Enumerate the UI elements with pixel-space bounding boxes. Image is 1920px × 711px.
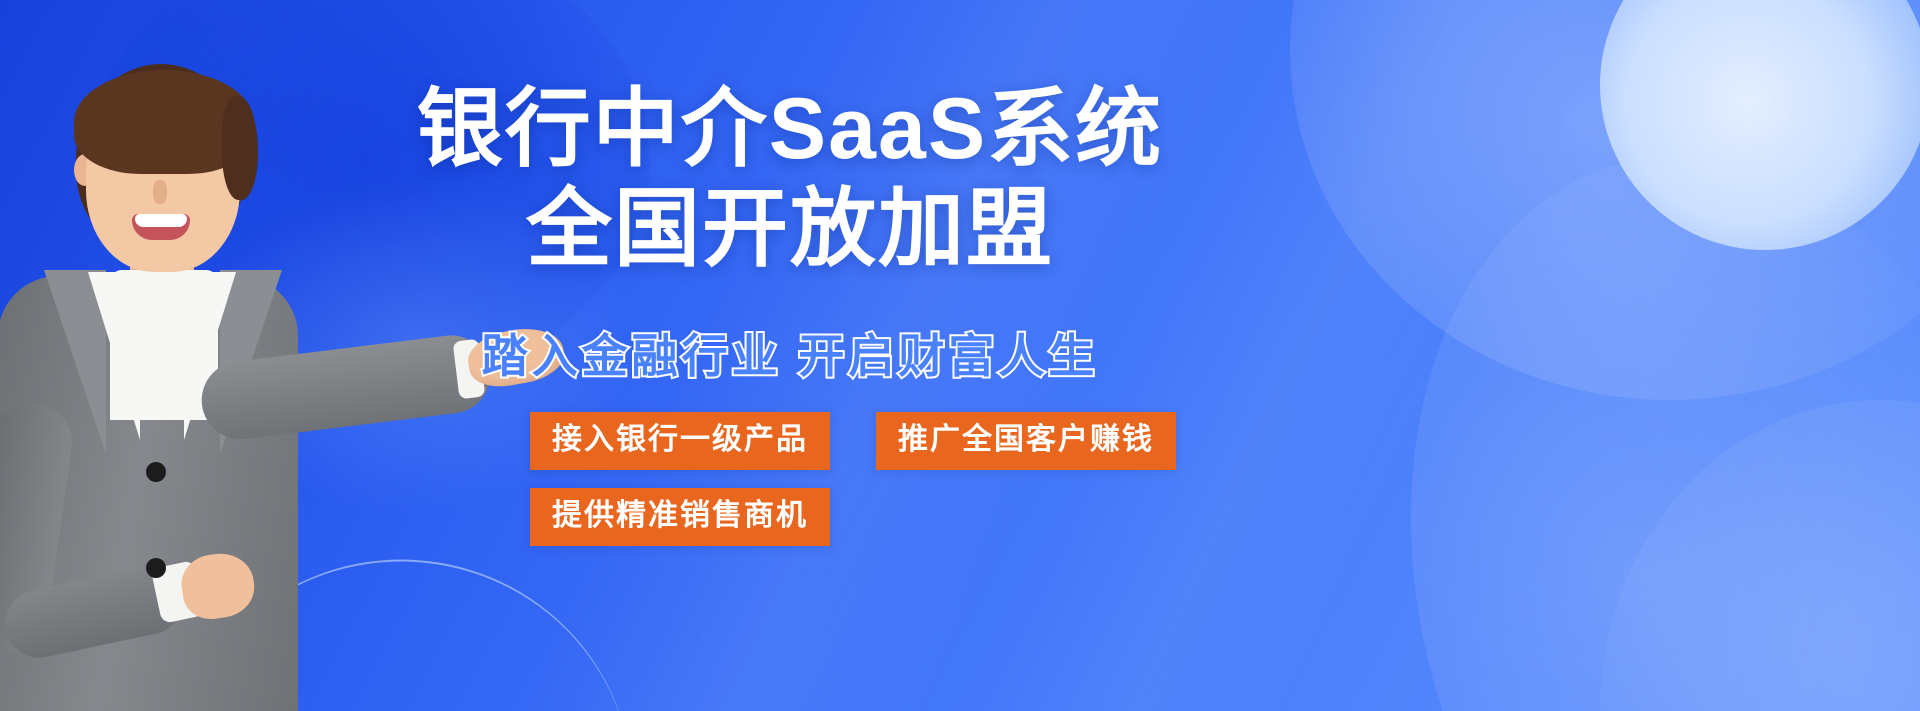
headline-line-1: 银行中介SaaS系统 [410, 86, 1170, 172]
badge-nationwide-customers[interactable]: 推广全国客户赚钱 [876, 412, 1176, 470]
suit-button-bottom [146, 558, 166, 578]
suit-lapel-left [88, 272, 140, 440]
suit-button-top [146, 462, 166, 482]
presenter-figure [0, 58, 400, 711]
hair-front [74, 70, 254, 174]
copy-block: 银行中介SaaS系统 全国开放加盟 踏入金融行业 开启财富人生 接入银行一级产品… [410, 0, 1170, 711]
badge-row-1: 接入银行一级产品 推广全国客户赚钱 [530, 412, 1170, 470]
mouth [132, 214, 190, 240]
teeth [135, 214, 187, 227]
promo-banner: 银行中介SaaS系统 全国开放加盟 踏入金融行业 开启财富人生 接入银行一级产品… [0, 0, 1920, 711]
badge-row-2: 提供精准销售商机 [530, 488, 1170, 546]
nose [153, 180, 167, 204]
headline-line-2: 全国开放加盟 [410, 186, 1170, 272]
badge-sales-leads[interactable]: 提供精准销售商机 [530, 488, 830, 546]
badge-bank-products[interactable]: 接入银行一级产品 [530, 412, 830, 470]
tagline: 踏入金融行业 开启财富人生 [410, 320, 1170, 386]
feature-badge-group: 接入银行一级产品 推广全国客户赚钱 提供精准销售商机 [530, 412, 1170, 564]
